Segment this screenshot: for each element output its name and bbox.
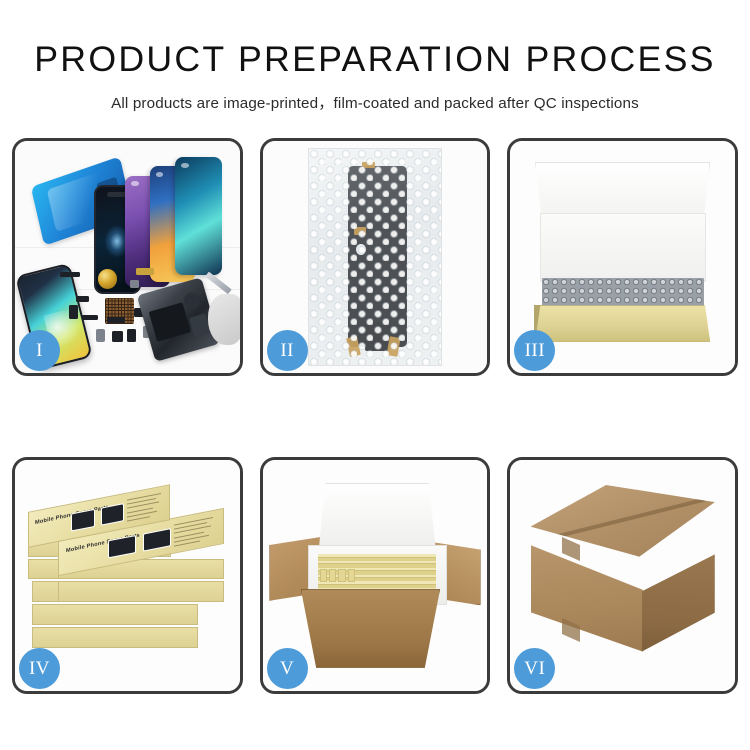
carton-front-face <box>531 545 643 651</box>
step-panel-1: I <box>12 138 243 376</box>
step-badge-2: II <box>267 330 308 371</box>
step-badge-3: III <box>514 330 555 371</box>
bubble-wrap-bag <box>308 148 443 366</box>
phone-teal <box>175 157 222 275</box>
box-stack: Mobile Phone Spare Parts Mobile Phone Sp… <box>28 483 226 673</box>
foam-lid <box>319 483 436 548</box>
step-badge-4: IV <box>19 648 60 689</box>
packed-boxes-upright <box>320 569 356 582</box>
step-panel-4: Mobile Phone Spare Parts Mobile Phone Sp… <box>12 457 243 695</box>
tweezers-tool <box>205 272 232 295</box>
step-badge-1: I <box>19 330 60 371</box>
product-preparation-infographic: PRODUCT PREPARATION PROCESS All products… <box>0 0 750 750</box>
step-panel-2: II <box>260 138 491 376</box>
steps-grid: I II <box>12 138 738 694</box>
bubble-wrapped-contents <box>542 278 704 308</box>
step-panel-6: VI <box>507 457 738 695</box>
page-subtitle: All products are image-printed，film-coat… <box>0 91 750 113</box>
carton-side-face <box>642 554 715 651</box>
header: PRODUCT PREPARATION PROCESS All products… <box>0 0 750 113</box>
carton-body <box>301 589 440 668</box>
step-panel-3: III <box>507 138 738 376</box>
step-panel-5: V <box>260 457 491 695</box>
technician-hand <box>208 294 239 345</box>
page-title: PRODUCT PREPARATION PROCESS <box>0 40 750 80</box>
carton-tape-seam <box>531 485 715 557</box>
foam-sheet <box>540 213 706 282</box>
carton-tape-upper <box>562 537 580 561</box>
yellow-inner-box <box>535 305 710 342</box>
step-badge-5: V <box>267 648 308 689</box>
